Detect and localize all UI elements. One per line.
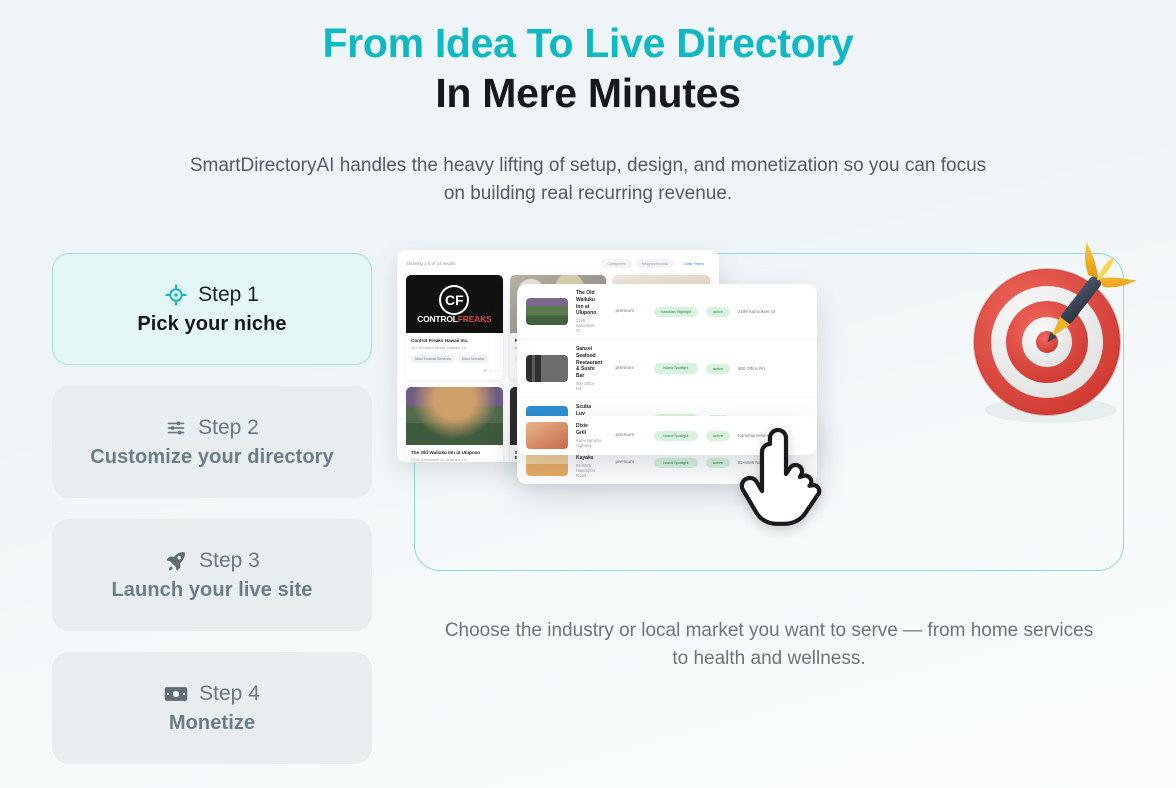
row-subtitle: 82-6026 Napoopoo Road: [576, 463, 596, 478]
mock-results-count: Showing 1-6 of 24 results: [406, 261, 456, 266]
row-subtitle: Kamehameha Highway: [576, 438, 596, 448]
mock-tile-name: The Old Wailuku Inn at Ulupono: [411, 450, 498, 455]
status-badge: active: [706, 458, 730, 468]
pointing-hand-cursor-icon: [737, 428, 829, 530]
row-badge: Island Spotlight: [654, 431, 698, 441]
status-badge: active: [706, 307, 730, 317]
main-content: Step 1 Pick your niche Step 2 Customize …: [0, 253, 1176, 764]
row-thumbnail: [526, 298, 568, 325]
mock-tile-tag: Maui Services: [458, 355, 489, 363]
control-freaks-logo-icon: CF CONTROLFREAKS: [406, 275, 503, 333]
page-title-line-2: In Mere Minutes: [0, 68, 1176, 118]
status-badge: active: [706, 364, 730, 374]
step-2-header: Step 2: [165, 416, 259, 440]
step-2-number: Step 2: [198, 416, 259, 440]
step-4-number: Step 4: [199, 682, 260, 706]
mock-chip-neighborhoods[interactable]: Neighborhoods: [636, 259, 674, 268]
step-1-label: Pick your niche: [137, 313, 286, 336]
row-tier: premium: [604, 309, 646, 314]
mock-tile[interactable]: CF CONTROLFREAKS Control Freaks Hawaii I…: [406, 275, 503, 380]
mock-tile-actions[interactable]: ✉ ☆ ⋯: [411, 368, 498, 374]
row-name: The Old Wailuku Inn at Ulupono: [576, 290, 596, 317]
hero-header: From Idea To Live Directory In Mere Minu…: [0, 0, 1176, 207]
step-card-1[interactable]: Step 1 Pick your niche: [52, 253, 372, 365]
step-3-number: Step 3: [199, 549, 260, 573]
step-4-label: Monetize: [169, 712, 255, 735]
illustration-stage: Showing 1-6 of 24 results Categories Nei…: [397, 232, 1141, 584]
illustration-frame: Showing 1-6 of 24 results Categories Nei…: [414, 253, 1124, 571]
dartboard-with-dart-icon: [955, 238, 1143, 438]
row-tier: premium: [604, 366, 646, 371]
step-card-2[interactable]: Step 2 Customize your directory: [52, 386, 372, 498]
step-card-4[interactable]: Step 4 Monetize: [52, 652, 372, 764]
page-title: From Idea To Live Directory In Mere Minu…: [0, 18, 1176, 118]
step-4-header: Step 4: [164, 682, 260, 706]
money-bill-icon: [164, 685, 188, 703]
mock-filter-chips: Categories Neighborhoods Clear Filters: [601, 259, 710, 268]
mock-tile-tag: Maui Federal Services: [411, 355, 455, 363]
mock-chip-clear-filters[interactable]: Clear Filters: [678, 259, 710, 268]
mock-chip-categories[interactable]: Categories: [601, 259, 631, 268]
row-address: 600 Office Rd: [738, 366, 808, 371]
step-1-number: Step 1: [198, 283, 259, 307]
row-thumbnail: [526, 355, 568, 382]
row-badge: Hawaiian Highlight: [654, 307, 698, 317]
steps-list: Step 1 Pick your niche Step 2 Customize …: [52, 253, 372, 764]
row-subtitle: 600 Office Rd: [576, 381, 596, 391]
garden-inn-image: [406, 387, 503, 445]
row-thumbnail: [526, 422, 568, 449]
step-card-3[interactable]: Step 3 Launch your live site: [52, 519, 372, 631]
mock-tile-address: 123 Ho'okani Street, Kahului, HI: [411, 345, 498, 350]
row-name: Dixie Grill: [576, 423, 596, 437]
step-3-label: Launch your live site: [111, 579, 312, 602]
table-row[interactable]: Sansei Seafood Restaurant & Sushi Bar 60…: [517, 340, 817, 398]
row-subtitle: 2199 Kahookele St: [576, 318, 596, 333]
crosshair-target-icon: [165, 284, 187, 306]
row-address: 2199 Kahookele St: [738, 309, 808, 314]
mock-toolbar: Showing 1-6 of 24 results Categories Nei…: [406, 259, 710, 268]
sliders-icon: [165, 418, 187, 438]
row-badge: Island Spotlight: [654, 458, 698, 468]
status-badge: active: [706, 431, 730, 441]
row-tier: premium: [604, 460, 646, 465]
illustration-column: Showing 1-6 of 24 results Categories Nei…: [414, 253, 1124, 764]
mock-tile[interactable]: The Old Wailuku Inn at Ulupono 2199 Kaho…: [406, 387, 503, 462]
page-subtitle: SmartDirectoryAI handles the heavy lifti…: [188, 152, 988, 207]
step-3-header: Step 3: [164, 549, 260, 573]
step-2-label: Customize your directory: [90, 446, 334, 469]
step-1-header: Step 1: [165, 283, 259, 307]
row-tier: premium: [604, 433, 646, 438]
mock-tile-name: Control Freaks Hawaii Inc.: [411, 338, 498, 343]
rocket-icon: [164, 550, 188, 572]
row-badge: Island Spotlight: [654, 363, 698, 373]
page-title-line-1: From Idea To Live Directory: [0, 18, 1176, 68]
table-row[interactable]: The Old Wailuku Inn at Ulupono 2199 Kaho…: [517, 284, 817, 340]
row-name: Sansei Seafood Restaurant & Sushi Bar: [576, 346, 596, 380]
illustration-caption: Choose the industry or local market you …: [414, 617, 1124, 672]
mock-tile-address: 2199 Kahookele St, Wailuku, HI: [411, 457, 498, 462]
